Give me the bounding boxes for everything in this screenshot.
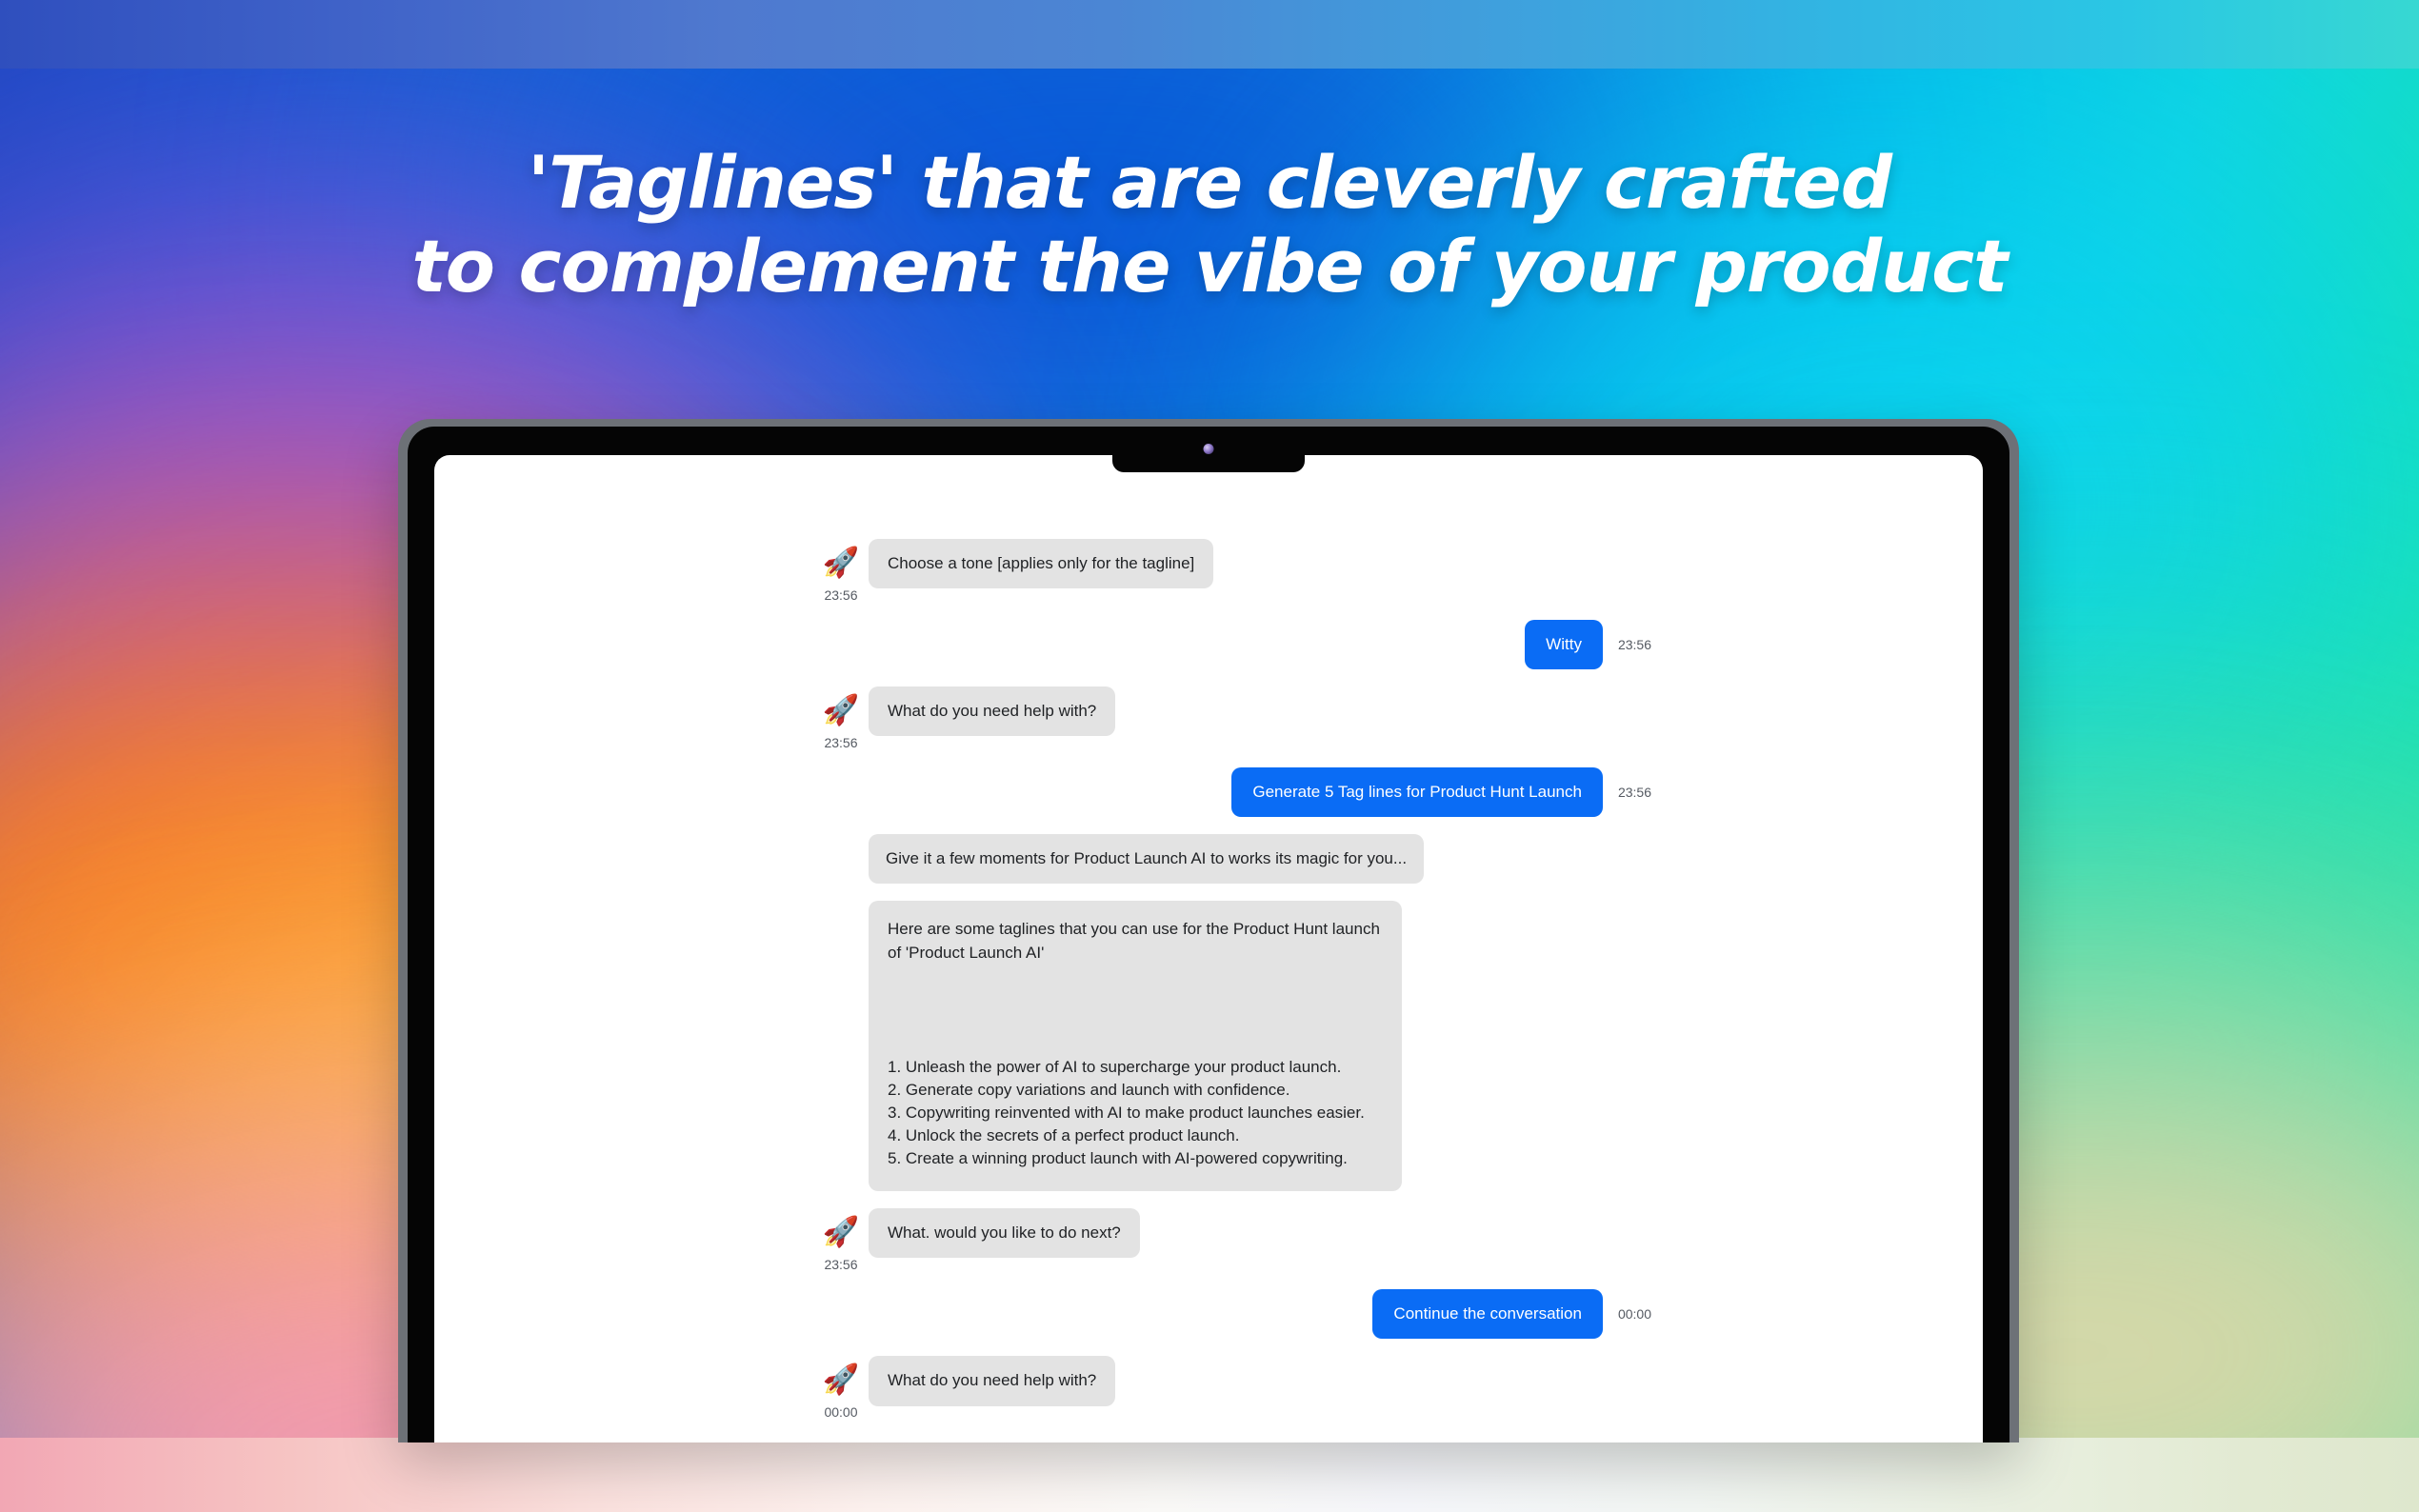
taglines-spacer xyxy=(888,965,1383,1056)
rocket-icon: 🚀 xyxy=(823,696,860,726)
message-bubble-bot[interactable]: What. would you like to do next? xyxy=(869,1208,1140,1258)
chat-row-bot: 🚀 00:00 What do you need help with? xyxy=(813,1356,1651,1420)
laptop-bezel: 🚀 23:56 Choose a tone [applies only for … xyxy=(408,427,2009,1442)
chat-row-bot: Give it a few moments for Product Launch… xyxy=(813,834,1651,884)
tagline-item: 5. Create a winning product launch with … xyxy=(888,1147,1383,1170)
chat-row-bot: 🚀 23:56 What do you need help with? xyxy=(813,686,1651,750)
chat-app: 🚀 23:56 Choose a tone [applies only for … xyxy=(434,455,1983,1442)
tagline-item: 4. Unlock the secrets of a perfect produ… xyxy=(888,1124,1383,1147)
message-bubble-bot[interactable]: Choose a tone [applies only for the tagl… xyxy=(869,539,1213,588)
message-bubble-taglines[interactable]: Here are some taglines that you can use … xyxy=(869,901,1402,1191)
message-bubble-user[interactable]: Generate 5 Tag lines for Product Hunt La… xyxy=(1231,767,1603,817)
message-timestamp: 23:56 xyxy=(1618,785,1651,800)
chat-row-user: Generate 5 Tag lines for Product Hunt La… xyxy=(813,767,1651,817)
message-timestamp: 23:56 xyxy=(1618,637,1651,652)
top-color-band xyxy=(0,0,2419,69)
chat-row-user: Witty 23:56 xyxy=(813,620,1651,669)
chat-row-bot: Here are some taglines that you can use … xyxy=(813,901,1651,1191)
camera-dot-icon xyxy=(1204,444,1214,454)
chat-row-user: Continue the conversation 00:00 xyxy=(813,1289,1651,1339)
chat-row-bot: 🚀 23:56 Choose a tone [applies only for … xyxy=(813,539,1651,603)
headline-line-2: to complement the vibe of your product xyxy=(0,225,2419,308)
rocket-icon: 🚀 xyxy=(823,548,860,578)
laptop-mockup: 🚀 23:56 Choose a tone [applies only for … xyxy=(398,419,2019,1442)
message-timestamp: 23:56 xyxy=(824,587,857,603)
chat-row-bot: 🚀 23:56 What. would you like to do next? xyxy=(813,1208,1651,1272)
avatar: 🚀 23:56 xyxy=(813,539,869,603)
message-bubble-user[interactable]: Continue the conversation xyxy=(1372,1289,1603,1339)
chat-message-list: 🚀 23:56 Choose a tone [applies only for … xyxy=(813,539,1651,1420)
avatar: 🚀 23:56 xyxy=(813,686,869,750)
tagline-item: 3. Copywriting reinvented with AI to mak… xyxy=(888,1102,1383,1124)
avatar: 🚀 23:56 xyxy=(813,1208,869,1272)
tagline-item: 1. Unleash the power of AI to supercharg… xyxy=(888,1056,1383,1079)
message-timestamp: 23:56 xyxy=(824,1257,857,1272)
laptop-notch xyxy=(1112,434,1305,472)
message-timestamp: 23:56 xyxy=(824,735,857,750)
message-bubble-bot[interactable]: What do you need help with? xyxy=(869,1356,1115,1405)
message-timestamp: 00:00 xyxy=(1618,1306,1651,1322)
rocket-icon: 🚀 xyxy=(823,1218,860,1247)
taglines-list: 1. Unleash the power of AI to supercharg… xyxy=(888,1056,1383,1171)
laptop-screen: 🚀 23:56 Choose a tone [applies only for … xyxy=(434,455,1983,1442)
message-timestamp: 00:00 xyxy=(824,1404,857,1420)
tagline-item: 2. Generate copy variations and launch w… xyxy=(888,1079,1383,1102)
message-bubble-bot[interactable]: What do you need help with? xyxy=(869,686,1115,736)
message-bubble-bot[interactable]: Give it a few moments for Product Launch… xyxy=(869,834,1424,884)
promo-screenshot: 'Taglines' that are cleverly crafted to … xyxy=(0,0,2419,1512)
rocket-icon: 🚀 xyxy=(823,1365,860,1395)
avatar: 🚀 00:00 xyxy=(813,1356,869,1420)
bottom-color-band xyxy=(0,1438,2419,1512)
headline-line-1: 'Taglines' that are cleverly crafted xyxy=(0,141,2419,225)
taglines-intro: Here are some taglines that you can use … xyxy=(888,918,1383,964)
page-title: 'Taglines' that are cleverly crafted to … xyxy=(0,141,2419,308)
message-bubble-user[interactable]: Witty xyxy=(1525,620,1603,669)
